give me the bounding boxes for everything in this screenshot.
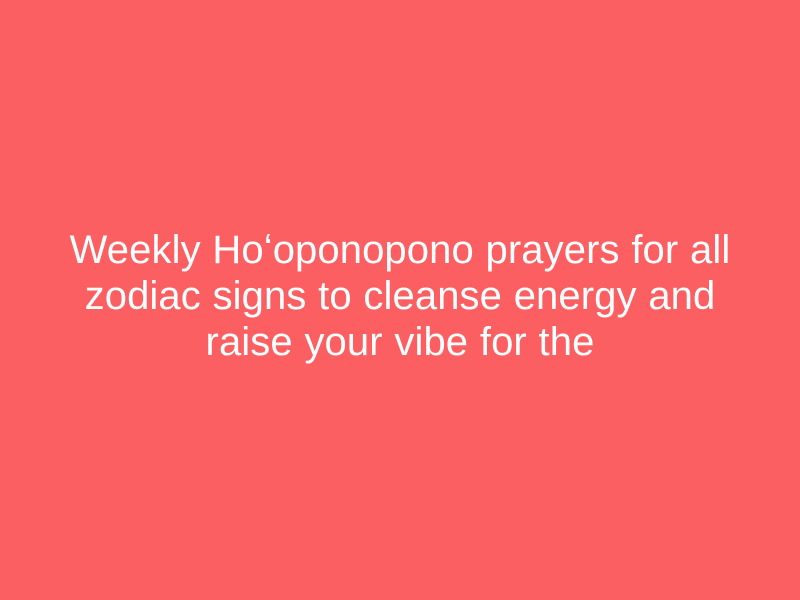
share-card: Weekly Hoʻoponopono prayers for all zodi…	[0, 0, 800, 600]
headline-block: Weekly Hoʻoponopono prayers for all zodi…	[50, 227, 750, 365]
page-title: Weekly Hoʻoponopono prayers for all zodi…	[54, 227, 746, 365]
